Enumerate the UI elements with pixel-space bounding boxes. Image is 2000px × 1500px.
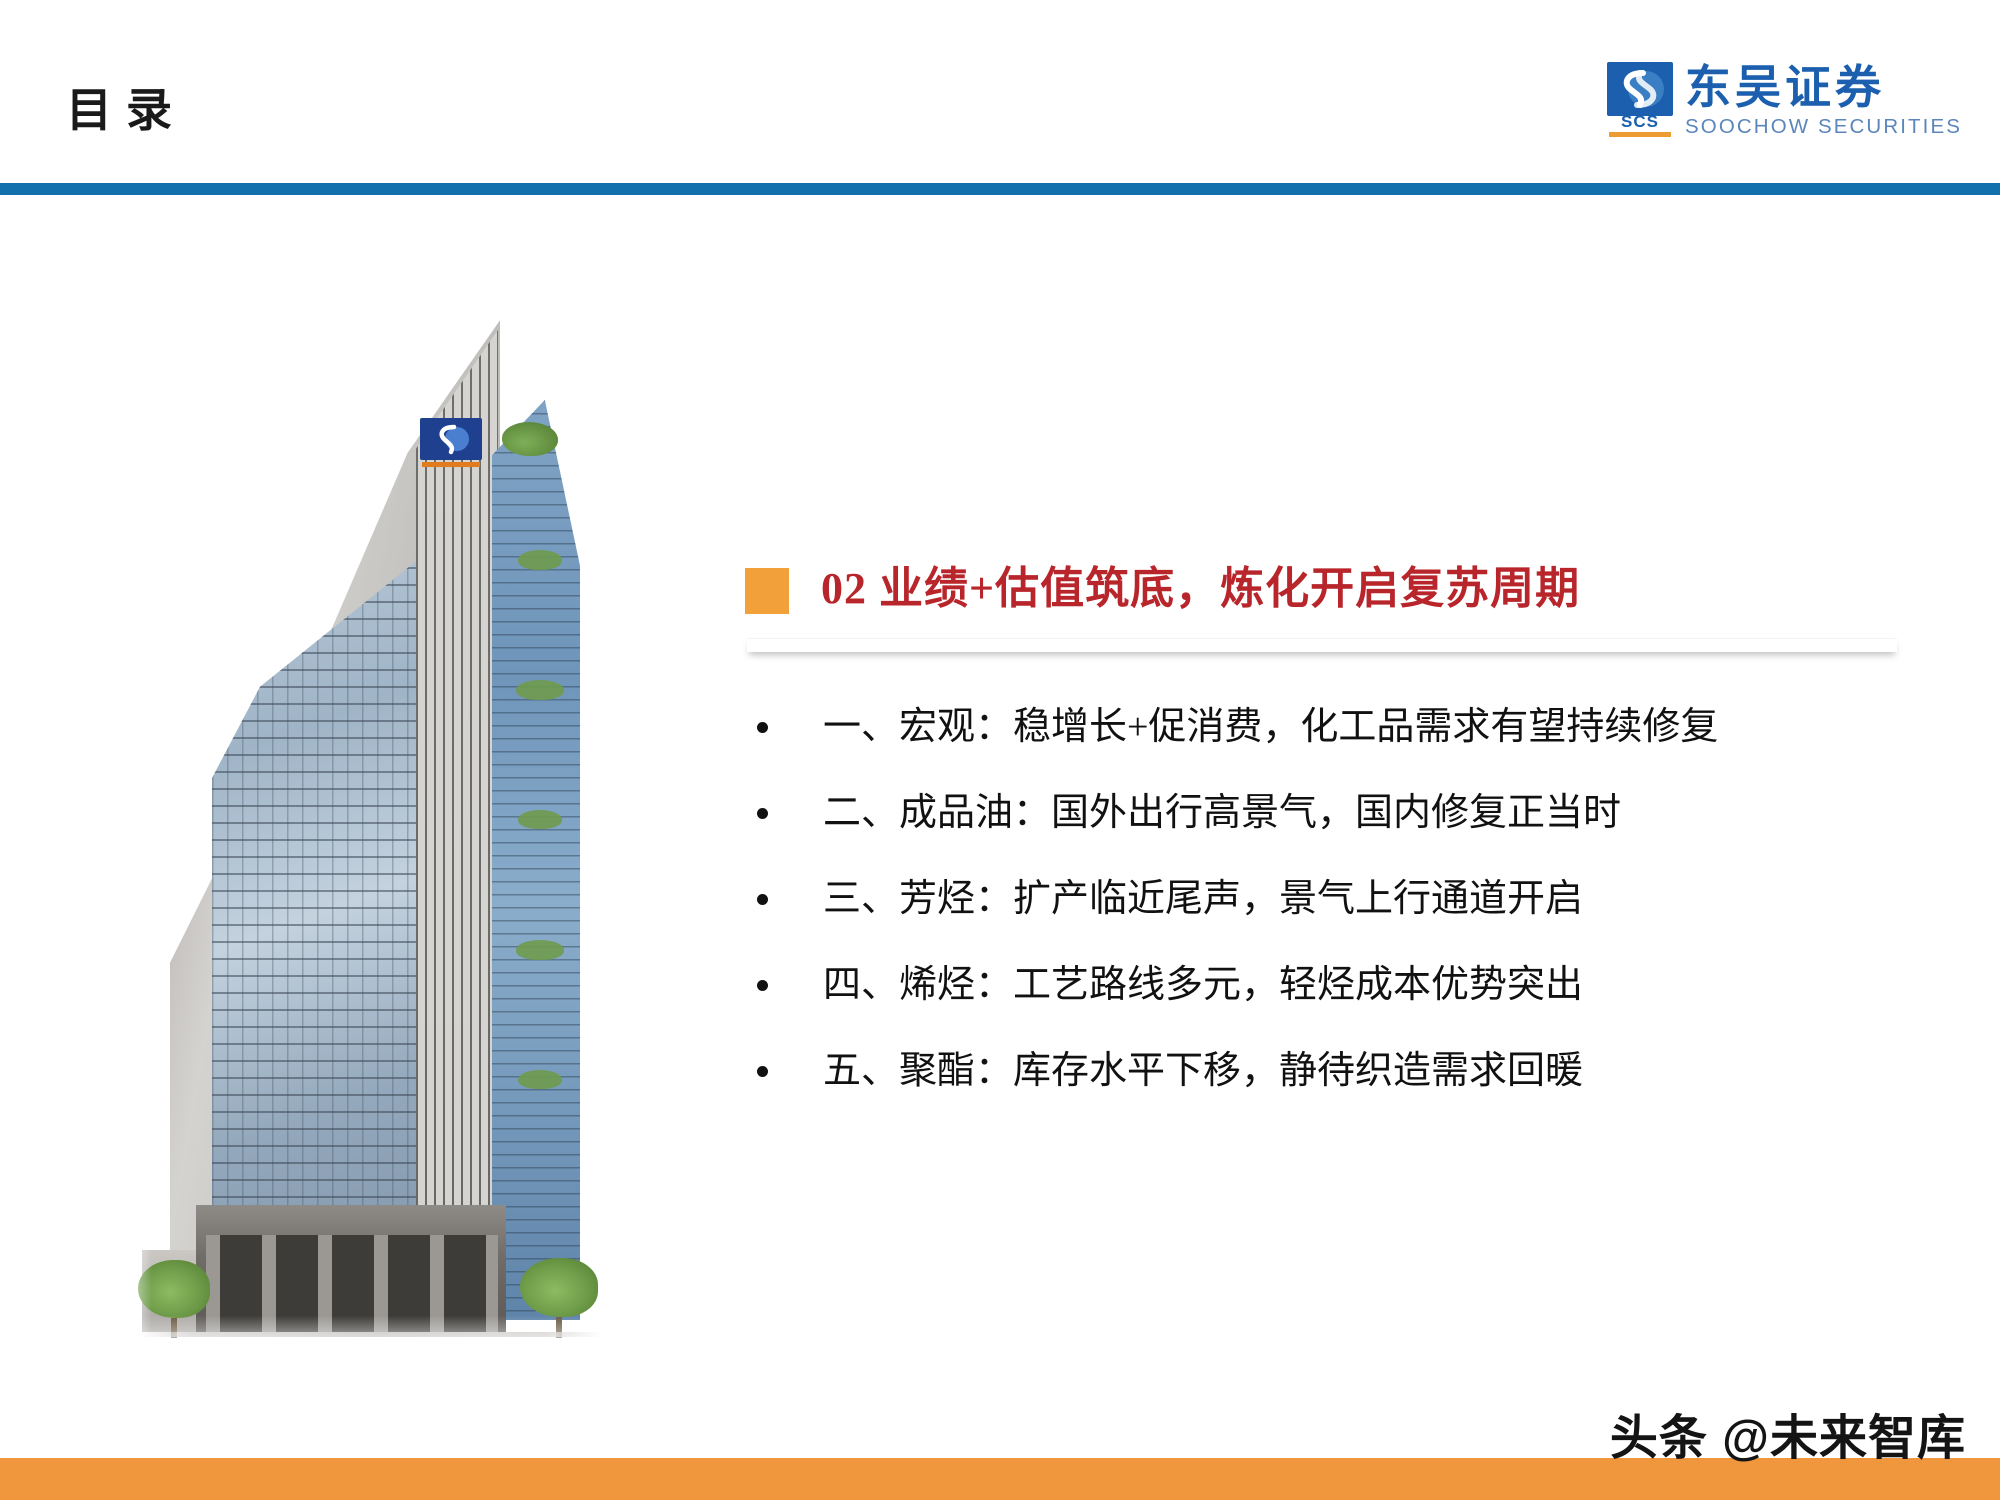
brand-name-cn: 东吴证券 [1685,62,1962,112]
bullet-dot-icon [757,980,768,991]
tree-crown [520,1258,598,1317]
list-item-label: 二、成品油：国外出行高景气，国内修复正当时 [823,792,1621,834]
list-item-label: 四、烯烃：工艺路线多元，轻烃成本优势突出 [823,964,1583,1006]
slide-root: 目录 SCS 东吴证券 SOOCHOW SECURITIES [0,0,2000,1500]
list-item[interactable]: 三、芳烃：扩产临近尾声，景气上行通道开启 [745,876,1925,962]
bullet-dot-icon [757,808,768,819]
section-bullet-square-icon [745,568,789,614]
list-item-label: 五、聚酯：库存水平下移，静待织造需求回暖 [823,1050,1583,1092]
list-item[interactable]: 二、成品油：国外出行高景气，国内修复正当时 [745,790,1925,876]
photo-right-glass-slab [492,400,580,1320]
watermark-text: 头条 @未来智库 [1610,1398,1966,1468]
photo-sky-garden [518,550,562,570]
list-item[interactable]: 五、聚酯：库存水平下移，静待织造需求回暖 [745,1048,1925,1134]
list-item-label: 一、宏观：稳增长+促消费，化工品需求有望持续修复 [823,706,1718,748]
photo-street-tree [138,1260,210,1338]
header-divider-rule [0,183,2000,195]
photo-ground-line [136,1332,602,1337]
photo-sky-garden [516,680,564,700]
photo-vertical-fins [416,330,498,1320]
photo-sky-garden [516,940,564,960]
list-item[interactable]: 四、烯烃：工艺路线多元，轻烃成本优势突出 [745,962,1925,1048]
section-title: 02 业绩+估值筑底，炼化开启复苏周期 [821,560,1580,618]
tree-crown [138,1260,210,1318]
photo-entrance-columns [206,1235,498,1335]
photo-street-tree [520,1258,598,1338]
toc-content: 02 业绩+估值筑底，炼化开启复苏周期 一、宏观：稳增长+促消费，化工品需求有望… [745,560,1925,1134]
bullet-dot-icon [757,722,768,733]
headquarters-building-photo [120,250,650,1360]
photo-canvas [120,250,650,1360]
list-item[interactable]: 一、宏观：稳增长+促消费，化工品需求有望持续修复 [745,704,1925,790]
sign-accent-bar [422,462,480,467]
brand-logo: SCS 东吴证券 SOOCHOW SECURITIES [1607,62,1962,144]
section-heading: 02 业绩+估值筑底，炼化开启复苏周期 [745,560,1925,630]
toc-list: 一、宏观：稳增长+促消费，化工品需求有望持续修复 二、成品油：国外出行高景气，国… [745,704,1925,1134]
bullet-dot-icon [757,894,768,905]
bullet-dot-icon [757,1066,768,1077]
brand-text-block: 东吴证券 SOOCHOW SECURITIES [1685,62,1962,139]
mark-accent-bar [1609,132,1671,137]
photo-sky-garden [518,810,562,829]
list-item-label: 三、芳烃：扩产临近尾声，景气上行通道开启 [823,878,1583,920]
photo-sky-garden [518,1070,562,1089]
page-title: 目录 [66,88,186,134]
photo-building-logo-sign [420,418,482,470]
interlocking-s-icon [1613,66,1667,112]
photo-rooftop-tree [502,422,558,456]
section-divider-bar [747,638,1897,652]
mark-scs-label: SCS [1607,114,1673,129]
sign-swirl-icon [426,423,476,455]
brand-name-en: SOOCHOW SECURITIES [1685,115,1962,139]
soochow-scs-mark-icon: SCS [1607,62,1673,138]
slide-header: 目录 SCS 东吴证券 SOOCHOW SECURITIES [0,0,2000,183]
